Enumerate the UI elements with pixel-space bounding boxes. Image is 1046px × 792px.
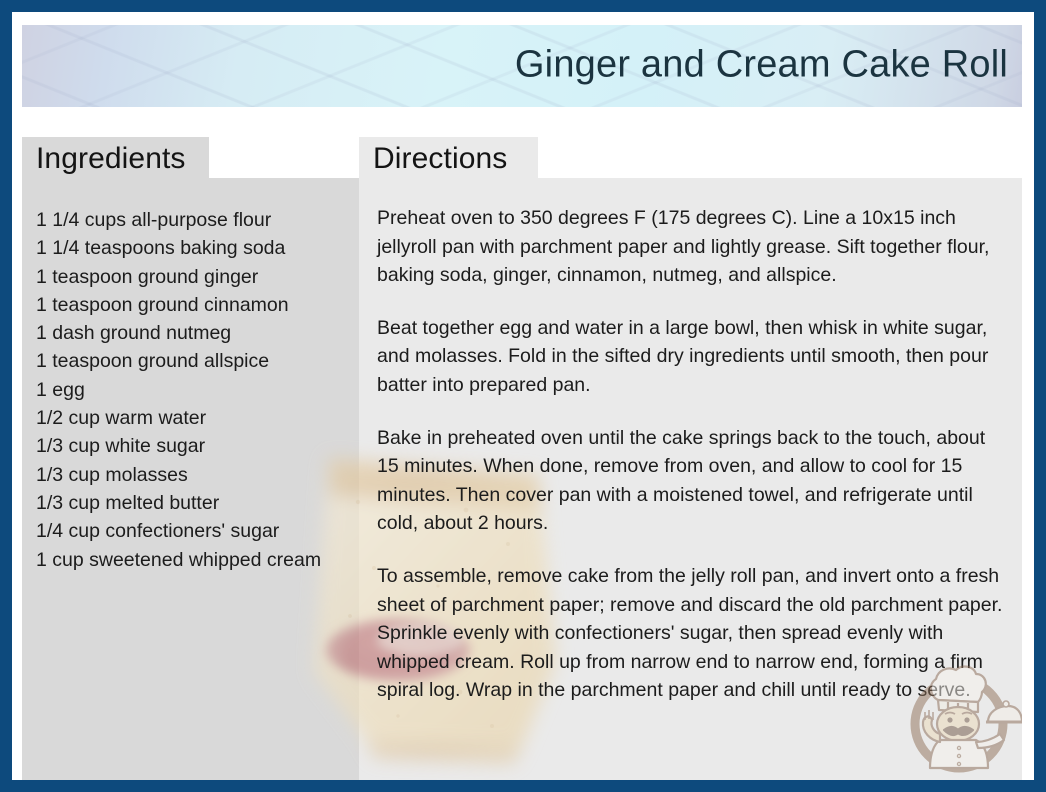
directions-panel: Preheat oven to 350 degrees F (175 degre…: [359, 178, 1022, 780]
directions-text: Preheat oven to 350 degrees F (175 degre…: [377, 204, 1009, 705]
ingredient-item: 1 teaspoon ground cinnamon: [36, 291, 358, 319]
ingredient-item: 1 egg: [36, 376, 358, 404]
ingredient-item: 1 1/4 teaspoons baking soda: [36, 234, 358, 262]
recipe-card: Ginger and Cream Cake Roll Ingredients D…: [12, 12, 1034, 780]
ingredients-heading: Ingredients: [36, 142, 186, 176]
ingredient-item: 1/2 cup warm water: [36, 404, 358, 432]
ingredient-item: 1 cup sweetened whipped cream: [36, 546, 358, 574]
ingredient-item: 1 teaspoon ground allspice: [36, 347, 358, 375]
ingredients-panel: 1 1/4 cups all-purpose flour1 1/4 teaspo…: [22, 178, 364, 780]
ingredient-item: 1/3 cup white sugar: [36, 432, 358, 460]
directions-section-tab: Directions: [359, 137, 538, 181]
ingredients-section-tab: Ingredients: [22, 137, 209, 181]
ingredient-item: 1 dash ground nutmeg: [36, 319, 358, 347]
ingredient-list: 1 1/4 cups all-purpose flour1 1/4 teaspo…: [36, 206, 358, 574]
title-banner: Ginger and Cream Cake Roll: [22, 25, 1022, 107]
ingredient-item: 1/4 cup confectioners' sugar: [36, 517, 358, 545]
directions-heading: Directions: [373, 142, 507, 176]
ingredient-item: 1/3 cup molasses: [36, 461, 358, 489]
ingredient-item: 1/3 cup melted butter: [36, 489, 358, 517]
direction-step: Beat together egg and water in a large b…: [377, 314, 1009, 400]
recipe-title: Ginger and Cream Cake Roll: [515, 44, 1008, 87]
ingredient-item: 1 1/4 cups all-purpose flour: [36, 206, 358, 234]
ingredient-item: 1 teaspoon ground ginger: [36, 263, 358, 291]
direction-step: Bake in preheated oven until the cake sp…: [377, 424, 1009, 538]
direction-step: Preheat oven to 350 degrees F (175 degre…: [377, 204, 1009, 290]
direction-step: To assemble, remove cake from the jelly …: [377, 562, 1009, 705]
